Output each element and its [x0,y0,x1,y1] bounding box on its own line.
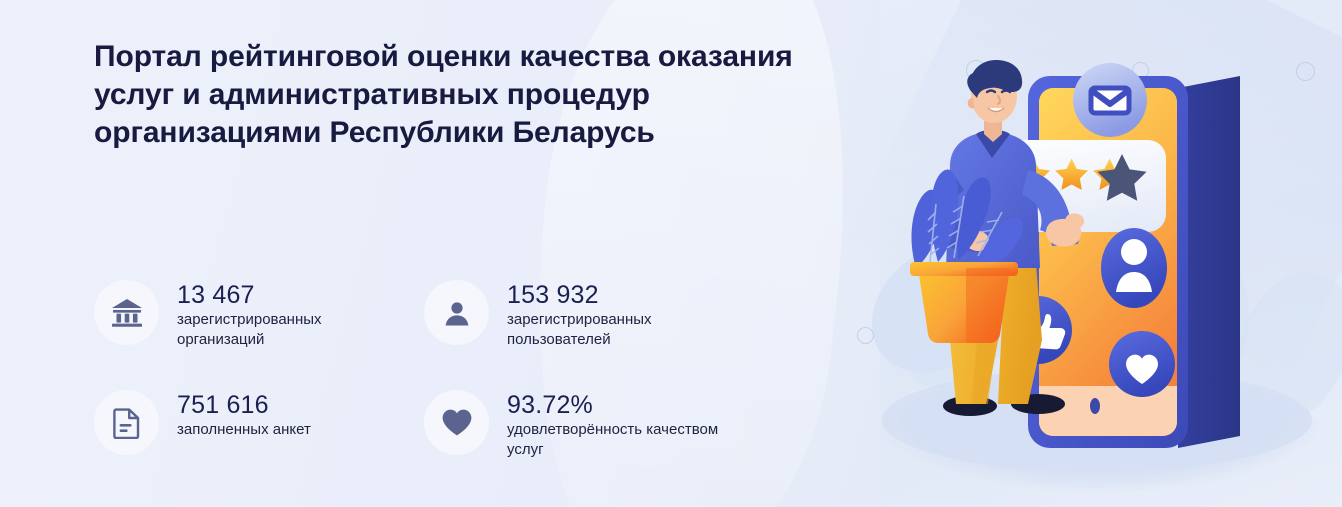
document-icon [94,390,159,455]
stat-text: 13 467 зарегистрированных организаций [177,278,407,350]
stat-value: 13 467 [177,281,255,309]
page-title: Портал рейтинговой оценки качества оказа… [94,38,794,152]
stat-text: 751 616 заполненных анкет [177,388,311,440]
stat-value: 153 932 [507,281,599,309]
user-badge [1101,228,1167,308]
stat-value: 93.72% [507,391,593,419]
stat-completed-questionnaires: 751 616 заполненных анкет [94,388,424,498]
heart-badge [1109,331,1175,397]
stat-value: 751 616 [177,391,269,419]
man-rating-smartphone-illustration [842,0,1342,507]
stat-label: удовлетворённость качеством услуг [507,420,737,460]
user-icon [424,280,489,345]
stat-label: зарегистрированных пользователей [507,310,737,350]
stat-label: зарегистрированных организаций [177,310,407,350]
stat-registered-organizations: 13 467 зарегистрированных организаций [94,278,424,388]
bank-icon [94,280,159,345]
stat-registered-users: 153 932 зарегистрированных пользователей [424,278,754,388]
stat-text: 93.72% удовлетворённость качеством услуг [507,388,737,460]
heart-icon [424,390,489,455]
hero-banner: Портал рейтинговой оценки качества оказа… [0,0,1342,507]
banner-content: Портал рейтинговой оценки качества оказа… [94,38,814,152]
stat-text: 153 932 зарегистрированных пользователей [507,278,737,350]
envelope-badge [1073,63,1147,137]
stat-service-satisfaction: 93.72% удовлетворённость качеством услуг [424,388,754,498]
stat-label: заполненных анкет [177,420,311,440]
statistics-grid: 13 467 зарегистрированных организаций 15… [94,278,814,498]
